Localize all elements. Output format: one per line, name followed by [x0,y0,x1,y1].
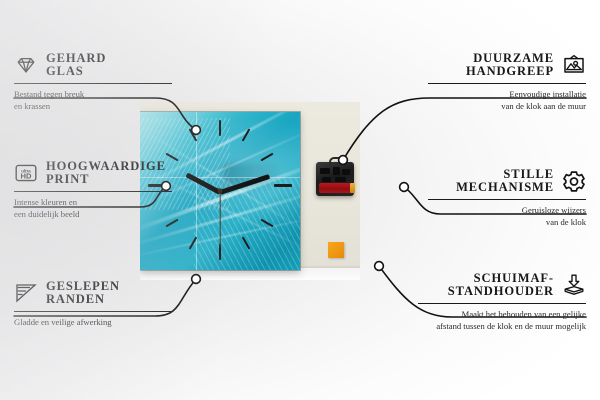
feature-hoogwaardige-print: ultra HD HOOGWAARDIGE PRINT Intense kleu… [14,160,172,220]
foam-spacer-block[interactable] [328,242,344,258]
picture-frame-icon [562,53,586,77]
diamond-icon [14,53,38,77]
feature-title: HOOGWAARDIGE PRINT [46,160,166,187]
feature-divider [14,191,172,192]
feature-description: Gladde en veilige afwerking [14,316,172,328]
beveled-edges-icon [14,281,38,305]
feature-description: Maakt het behouden van een gelijke afsta… [418,308,586,332]
feature-description: Intense kleuren en een duidelijk beeld [14,196,172,220]
clock-second-hand [219,192,220,248]
feature-title: GESLEPEN RANDEN [46,280,120,307]
clock-tick-12 [219,120,221,136]
clock-movement-mechanism[interactable] [316,162,354,196]
battery-positive-terminal [350,183,355,193]
feature-header: SCHUIMAF- STANDHOUDER [418,272,586,299]
feature-title-line2: HANDGREEP [466,65,554,78]
svg-text:HD: HD [21,172,32,181]
feature-title: DUURZAME HANDGREEP [466,52,554,79]
feature-schuimafstandhouder: SCHUIMAF- STANDHOUDER Maakt het behouden… [418,272,586,332]
feature-divider [428,83,586,84]
foam-spacer-icon [562,273,586,297]
feature-title-line1: GEHARD [46,52,106,65]
glass-reflection-vertical [196,112,197,270]
feature-title: SCHUIMAF- STANDHOUDER [448,272,554,299]
movement-slot [322,177,331,182]
connector-dot-houder [375,262,384,271]
feature-divider [418,303,586,304]
clock-tick-3 [274,184,292,187]
feature-description: Bestand tegen breuk en krassen [14,88,172,112]
feature-header: STILLE MECHANISME [428,168,586,195]
feature-title: STILLE MECHANISME [456,168,554,195]
aa-battery [319,183,351,193]
feature-gehard-glas: GEHARD GLAS Bestand tegen breuk en krass… [14,52,172,112]
feature-title-line1: SCHUIMAF- [474,272,554,285]
movement-shaft [329,157,345,165]
feature-title-line2: PRINT [46,173,166,186]
feature-title-line2: RANDEN [46,293,120,306]
feature-title-line2: MECHANISME [456,181,554,194]
feature-title-line1: HOOGWAARDIGE [46,160,166,173]
feature-stille-mechanisme: STILLE MECHANISME Geruisloze wijzers van… [428,168,586,228]
feature-divider [14,83,172,84]
movement-slot [333,167,340,175]
movement-slot [320,168,330,174]
feature-header: GESLEPEN RANDEN [14,280,172,307]
feature-title-line2: GLAS [46,65,106,78]
feature-description: Eenvoudige installatie van de klok aan d… [428,88,586,112]
feature-title: GEHARD GLAS [46,52,106,79]
feature-divider [14,311,172,312]
feature-header: DUURZAME HANDGREEP [428,52,586,79]
feature-description: Geruisloze wijzers van de klok [428,204,586,228]
connector-dot-mechanisme [400,183,409,192]
feature-header: ultra HD HOOGWAARDIGE PRINT [14,160,172,187]
product-photo [140,102,360,280]
movement-slot [335,177,346,182]
feature-header: GEHARD GLAS [14,52,172,79]
gear-icon [562,169,586,193]
feature-duurzame-handgreep: DUURZAME HANDGREEP Eenvoudige installati… [428,52,586,112]
movement-slot [342,169,350,175]
feature-geslepen-randen: GESLEPEN RANDEN Gladde en veilige afwerk… [14,280,172,328]
clock-hands-hub [218,189,223,194]
feature-divider [428,199,586,200]
feature-title-line1: GESLEPEN [46,280,120,293]
feature-title-line2: STANDHOUDER [448,285,554,298]
feature-title-line1: DUURZAME [473,52,554,65]
infographic-canvas: GEHARD GLAS Bestand tegen breuk en krass… [0,0,600,400]
clock-tick-2 [260,153,273,162]
feature-title-line1: STILLE [503,168,554,181]
ultra-hd-icon: ultra HD [14,161,38,185]
